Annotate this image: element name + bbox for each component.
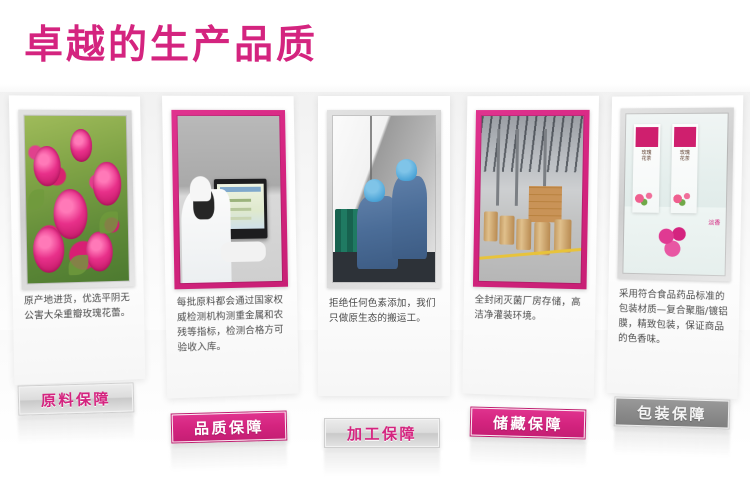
- badge-reflection: [614, 428, 731, 457]
- feature-panel-raw-material: 原产地进货，优选平阴无公害大朵重瓣玫瑰花蕾。 原料保障: [12, 96, 144, 452]
- badge-label: 加工保障: [347, 423, 417, 444]
- feature-panel-processing: 拒绝任何色素添加，我们只做原生态的搬运工。 加工保障: [318, 96, 450, 452]
- panel-caption: 采用符合食品药品标准的包装材质—复合聚脂/镀铝膜，精致包装，保证商品的色香味。: [618, 286, 730, 350]
- rose-field-photo: [23, 115, 129, 285]
- badge-label: 品质保障: [194, 416, 265, 439]
- page-title: 卓越的生产品质: [24, 14, 318, 70]
- panel-card: 玫瑰花茶 玫瑰花茶 淡香 采用符合食品药品标准的包装材质—复合聚脂/镀铝膜，精致…: [607, 95, 744, 399]
- panel-caption: 全封闭灭菌厂房存储，高洁净灌装环境。: [474, 293, 586, 326]
- badge-reflection: [18, 414, 135, 443]
- panel-card: 原产地进货，优选平阴无公害大朵重瓣玫瑰花蕾。: [9, 95, 145, 385]
- status-badge: 品质保障: [171, 410, 288, 443]
- promo-banner: 卓越的生产品质 原产地进货，优选平阴无公害大朵重瓣玫瑰花蕾。: [0, 0, 750, 495]
- panel-caption: 拒绝任何色素添加，我们只做原生态的搬运工。: [329, 296, 441, 326]
- panel-caption: 原产地进货，优选平阴无公害大朵重瓣玫瑰花蕾。: [24, 290, 136, 324]
- warehouse-photo: [478, 115, 585, 284]
- panel-caption: 每批原料都会通过国家权威检测机构测重金属和农残等指标，检测合格方可验收入库。: [177, 293, 290, 356]
- panel-card: 每批原料都会通过国家权威检测机构测重金属和农残等指标，检测合格方可验收入库。: [162, 96, 299, 399]
- badge-label: 包装保障: [637, 402, 708, 425]
- photo-frame: [473, 110, 590, 289]
- badge-label: 储藏保障: [493, 412, 564, 435]
- feature-panel-packaging: 玫瑰花茶 玫瑰花茶 淡香 采用符合食品药品标准的包装材质—复合聚脂/镀铝膜，精致…: [608, 96, 740, 452]
- cloth-mark-label: 淡香: [708, 217, 720, 226]
- lab-inspection-photo: [177, 115, 284, 284]
- feature-panel-quality: 每批原料都会通过国家权威检测机构测重金属和农残等指标，检测合格方可验收入库。 品…: [165, 96, 297, 452]
- photo-frame: [171, 110, 288, 289]
- badge-label: 原料保障: [41, 388, 112, 411]
- product-packaging-photo: 玫瑰花茶 玫瑰花茶 淡香: [622, 113, 728, 277]
- photo-frame: [18, 110, 135, 290]
- photo-frame: [327, 110, 441, 288]
- status-badge: 包装保障: [614, 396, 731, 429]
- panel-card: 拒绝任何色素添加，我们只做原生态的搬运工。: [318, 96, 450, 396]
- status-badge: 原料保障: [18, 382, 135, 415]
- workers-packing-photo: [332, 115, 436, 283]
- status-badge: 储藏保障: [470, 406, 587, 439]
- badge-reflection: [171, 442, 288, 471]
- photo-frame: 玫瑰花茶 玫瑰花茶 淡香: [617, 107, 733, 281]
- badge-reflection: [470, 438, 587, 467]
- pouch-product-label-2: 玫瑰花茶: [678, 150, 691, 162]
- feature-panel-storage: 全封闭灭菌厂房存储，高洁净灌装环境。 储藏保障: [464, 96, 596, 452]
- panel-card: 全封闭灭菌厂房存储，高洁净灌装环境。: [462, 96, 599, 399]
- pouch-product-label: 玫瑰花茶: [640, 150, 653, 162]
- status-badge: 加工保障: [324, 418, 440, 448]
- badge-reflection: [324, 450, 440, 476]
